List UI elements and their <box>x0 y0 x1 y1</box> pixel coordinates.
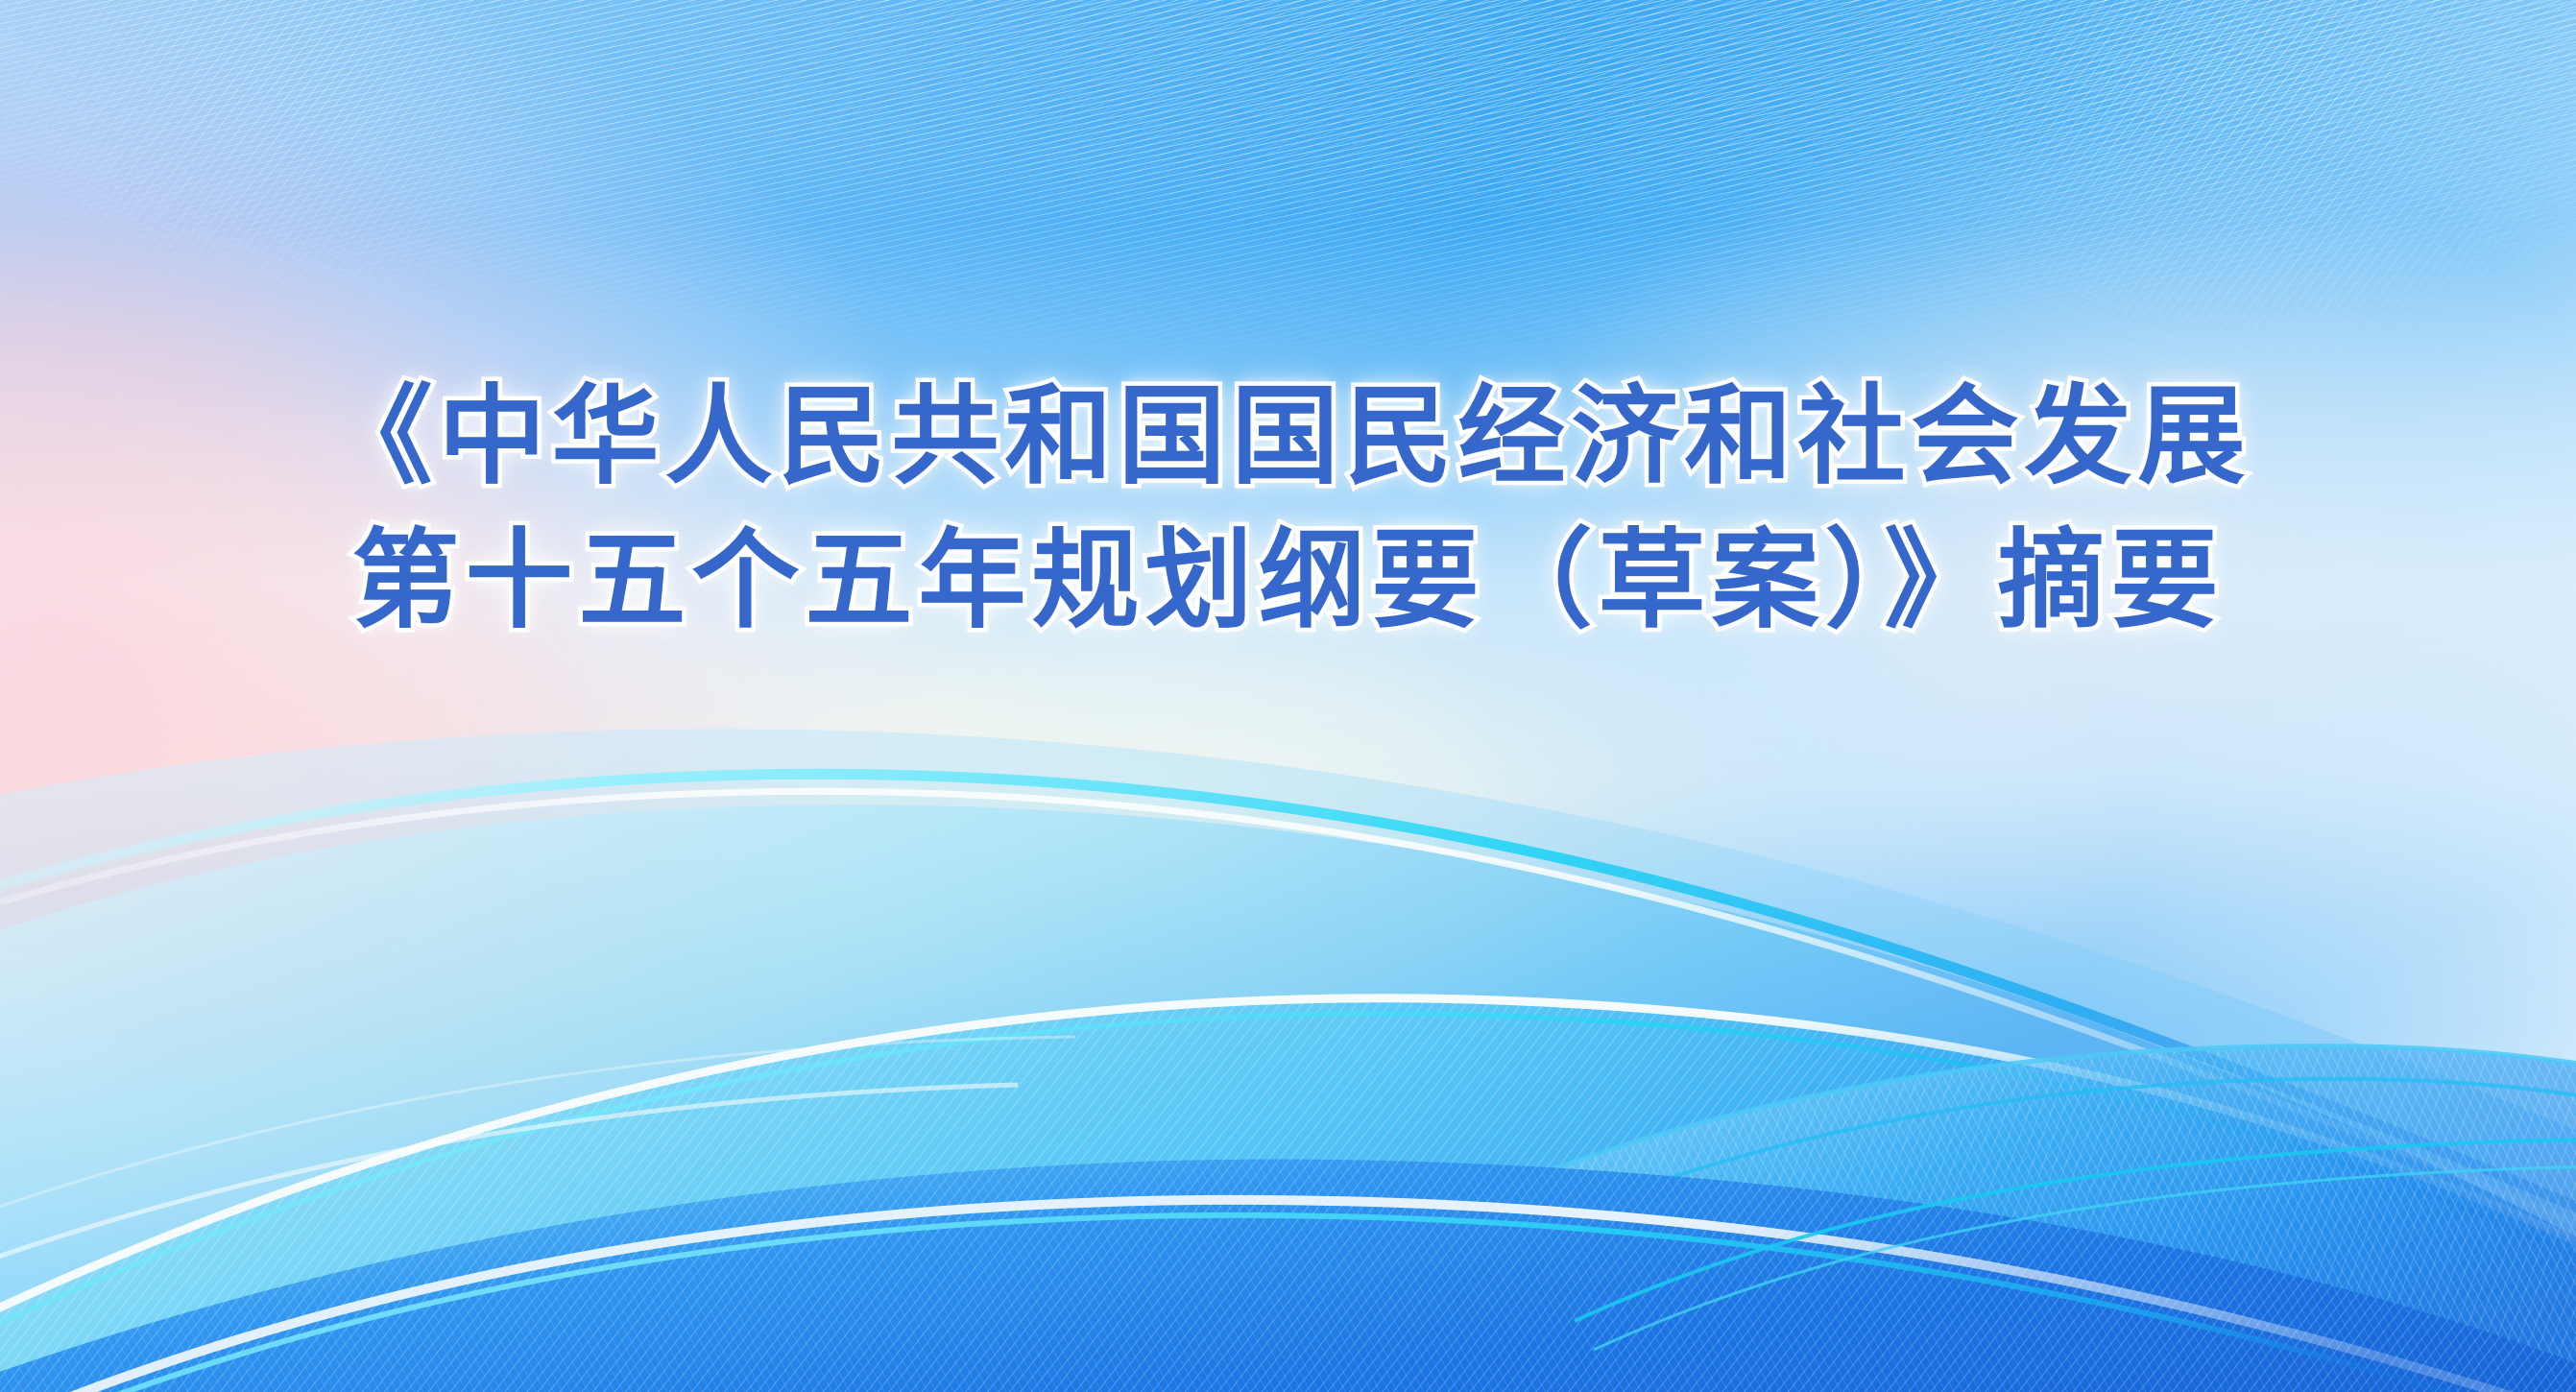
background-wave-ribbons <box>0 662 2576 1392</box>
banner-title: 《中华人民共和国国民经济和社会发展 第十五个五年规划纲要（草案）》摘要 <box>0 376 2576 641</box>
title-line-1: 《中华人民共和国国民经济和社会发展 <box>0 376 2576 497</box>
banner-canvas: 《中华人民共和国国民经济和社会发展 第十五个五年规划纲要（草案）》摘要 <box>0 0 2576 1392</box>
title-line-2: 第十五个五年规划纲要（草案）》摘要 <box>0 520 2576 641</box>
